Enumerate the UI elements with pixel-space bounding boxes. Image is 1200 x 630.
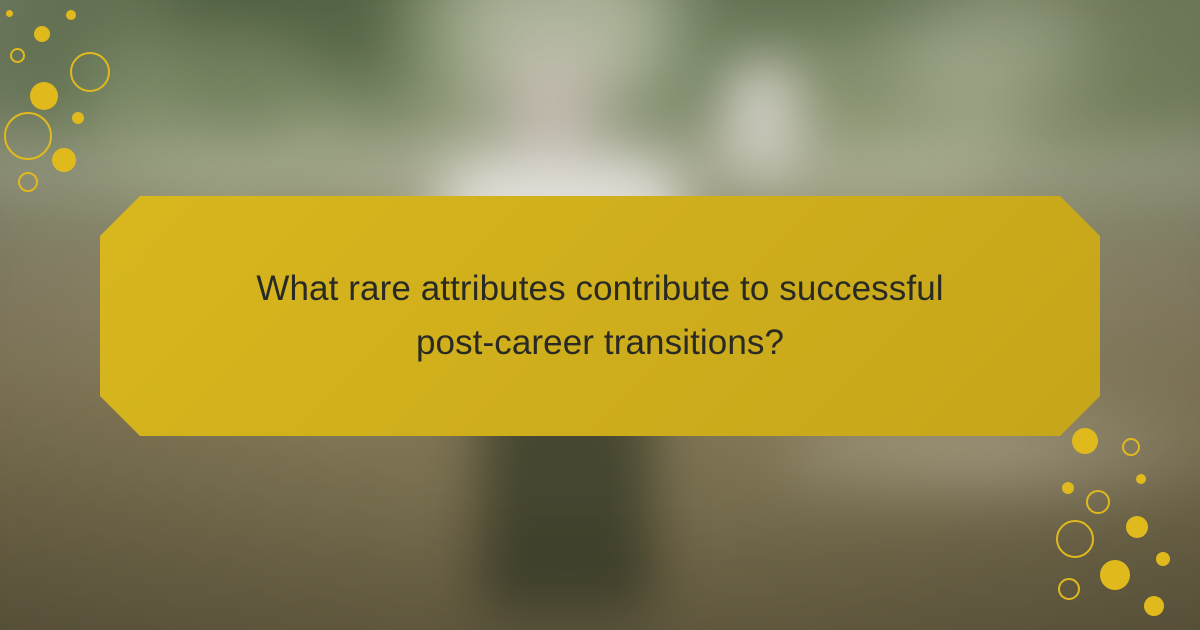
dot-ring-6-decoration	[1086, 490, 1110, 514]
dot-ring-3-decoration	[4, 112, 52, 160]
dot-ring-2-decoration	[70, 52, 110, 92]
dot-ring-7-decoration	[1056, 520, 1094, 558]
dot-filled-8-decoration	[1136, 474, 1146, 484]
dot-ring-8-decoration	[1058, 578, 1080, 600]
headline-text: What rare attributes contribute to succe…	[220, 262, 980, 371]
dot-filled-1-decoration	[34, 26, 50, 42]
dot-filled-2-decoration	[66, 10, 76, 20]
dot-ring-4-decoration	[18, 172, 38, 192]
dot-filled-5-decoration	[52, 148, 76, 172]
social-card: What rare attributes contribute to succe…	[0, 0, 1200, 630]
dot-filled-4-decoration	[72, 112, 84, 124]
dot-filled-13-decoration	[1144, 596, 1164, 616]
decorative-dots-top-left	[0, 0, 160, 200]
headline-banner: What rare attributes contribute to succe…	[100, 196, 1100, 436]
dot-filled-12-decoration	[1100, 560, 1130, 590]
dot-filled-10-decoration	[1126, 516, 1148, 538]
dot-filled-6-decoration	[6, 10, 13, 17]
dot-filled-11-decoration	[1156, 552, 1170, 566]
dot-filled-7-decoration	[1072, 428, 1098, 454]
dot-ring-5-decoration	[1122, 438, 1140, 456]
dot-ring-1-decoration	[10, 48, 25, 63]
decorative-dots-bottom-right	[1040, 420, 1200, 630]
dot-filled-3-decoration	[30, 82, 58, 110]
dot-filled-9-decoration	[1062, 482, 1074, 494]
